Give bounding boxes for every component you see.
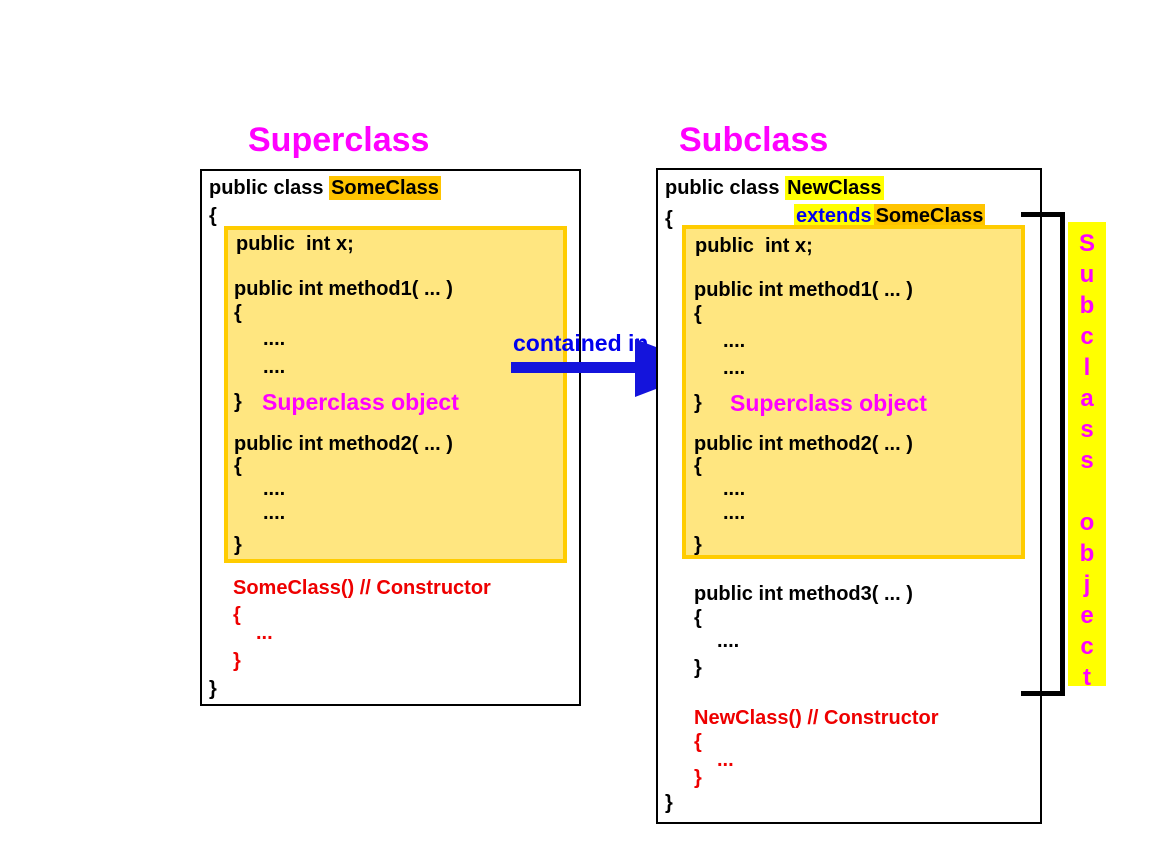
subclass-title: Subclass xyxy=(679,123,828,157)
side-label-char: s xyxy=(1068,414,1106,445)
subclass-field: public int x; xyxy=(695,236,813,256)
superclass-field: public int x; xyxy=(236,234,354,254)
subclass-method3-signature: public int method3( ... ) xyxy=(694,584,913,604)
subclass-declaration: public class NewClass xyxy=(665,178,884,198)
subclass-constructor-close: } xyxy=(694,768,702,788)
superclass-method1-close: } xyxy=(234,392,242,412)
side-label-char: b xyxy=(1068,290,1106,321)
arrow-label: contained in xyxy=(513,330,648,357)
superclass-method2-open: { xyxy=(234,456,242,476)
side-label-char: t xyxy=(1068,662,1106,693)
subclass-method2-signature: public int method2( ... ) xyxy=(694,434,913,454)
superclass-method2-close: } xyxy=(234,535,242,555)
subclass-method1-signature: public int method1( ... ) xyxy=(694,280,913,300)
subclass-method1-body-0: .... xyxy=(723,331,745,351)
subclass-method1-open: { xyxy=(694,304,702,324)
bracket-spine xyxy=(1060,212,1065,696)
subclass-object-note: Superclass object xyxy=(730,390,927,417)
subclass-method2-open: { xyxy=(694,456,702,476)
subclass-constructor-body: ... xyxy=(717,750,734,770)
arrow-shaft xyxy=(511,362,641,373)
subclass-object-side-label: S u b c l a s s o b j e c t xyxy=(1068,222,1106,686)
bracket-bottom-arm xyxy=(1021,691,1065,696)
superclass-declaration-prefix: public class xyxy=(209,177,329,199)
subclass-declaration-prefix: public class xyxy=(665,177,785,199)
superclass-constructor-close: } xyxy=(233,651,241,671)
subclass-constructor-open: { xyxy=(694,732,702,752)
superclass-constructor-signature: SomeClass() // Constructor xyxy=(233,578,491,598)
subclass-open-brace: { xyxy=(665,209,673,229)
subclass-method1-close: } xyxy=(694,393,702,413)
side-label-char-space xyxy=(1068,476,1106,507)
superclass-constructor-body: ... xyxy=(256,623,273,643)
subclass-method3-body: .... xyxy=(717,631,739,651)
side-label-char: o xyxy=(1068,507,1106,538)
subclass-name-highlight: NewClass xyxy=(785,176,884,200)
subclass-constructor-signature: NewClass() // Constructor xyxy=(694,708,938,728)
superclass-method1-signature: public int method1( ... ) xyxy=(234,279,453,299)
subclass-close-brace: } xyxy=(665,793,673,813)
side-label-char: a xyxy=(1068,383,1106,414)
superclass-declaration: public class SomeClass xyxy=(209,178,441,198)
subclass-method2-close: } xyxy=(694,535,702,555)
subclass-method2-body-1: .... xyxy=(723,503,745,523)
subclass-method1-body-1: .... xyxy=(723,358,745,378)
inheritance-diagram: Superclass Subclass public class SomeCla… xyxy=(0,0,1160,841)
superclass-method1-body-1: .... xyxy=(263,357,285,377)
subclass-method3-close: } xyxy=(694,658,702,678)
superclass-method2-body-1: .... xyxy=(263,503,285,523)
side-label-char: j xyxy=(1068,569,1106,600)
side-label-char: c xyxy=(1068,631,1106,662)
superclass-close-brace: } xyxy=(209,679,217,699)
superclass-method1-open: { xyxy=(234,303,242,323)
superclass-name-highlight: SomeClass xyxy=(329,176,441,200)
bracket-top-arm xyxy=(1021,212,1065,217)
side-label-char: l xyxy=(1068,352,1106,383)
side-label-char: c xyxy=(1068,321,1106,352)
subclass-method2-body-0: .... xyxy=(723,479,745,499)
subclass-extends-line: extendsSomeClass xyxy=(794,206,985,226)
side-label-char: S xyxy=(1068,228,1106,259)
superclass-method1-body-0: .... xyxy=(263,329,285,349)
superclass-constructor-open: { xyxy=(233,605,241,625)
superclass-method2-body-0: .... xyxy=(263,479,285,499)
superclass-open-brace: { xyxy=(209,206,217,226)
side-label-char: b xyxy=(1068,538,1106,569)
side-label-char: e xyxy=(1068,600,1106,631)
superclass-title: Superclass xyxy=(248,123,429,157)
superclass-object-note: Superclass object xyxy=(262,389,459,416)
side-label-char: u xyxy=(1068,259,1106,290)
superclass-method2-signature: public int method2( ... ) xyxy=(234,434,453,454)
side-label-char: s xyxy=(1068,445,1106,476)
subclass-method3-open: { xyxy=(694,608,702,628)
